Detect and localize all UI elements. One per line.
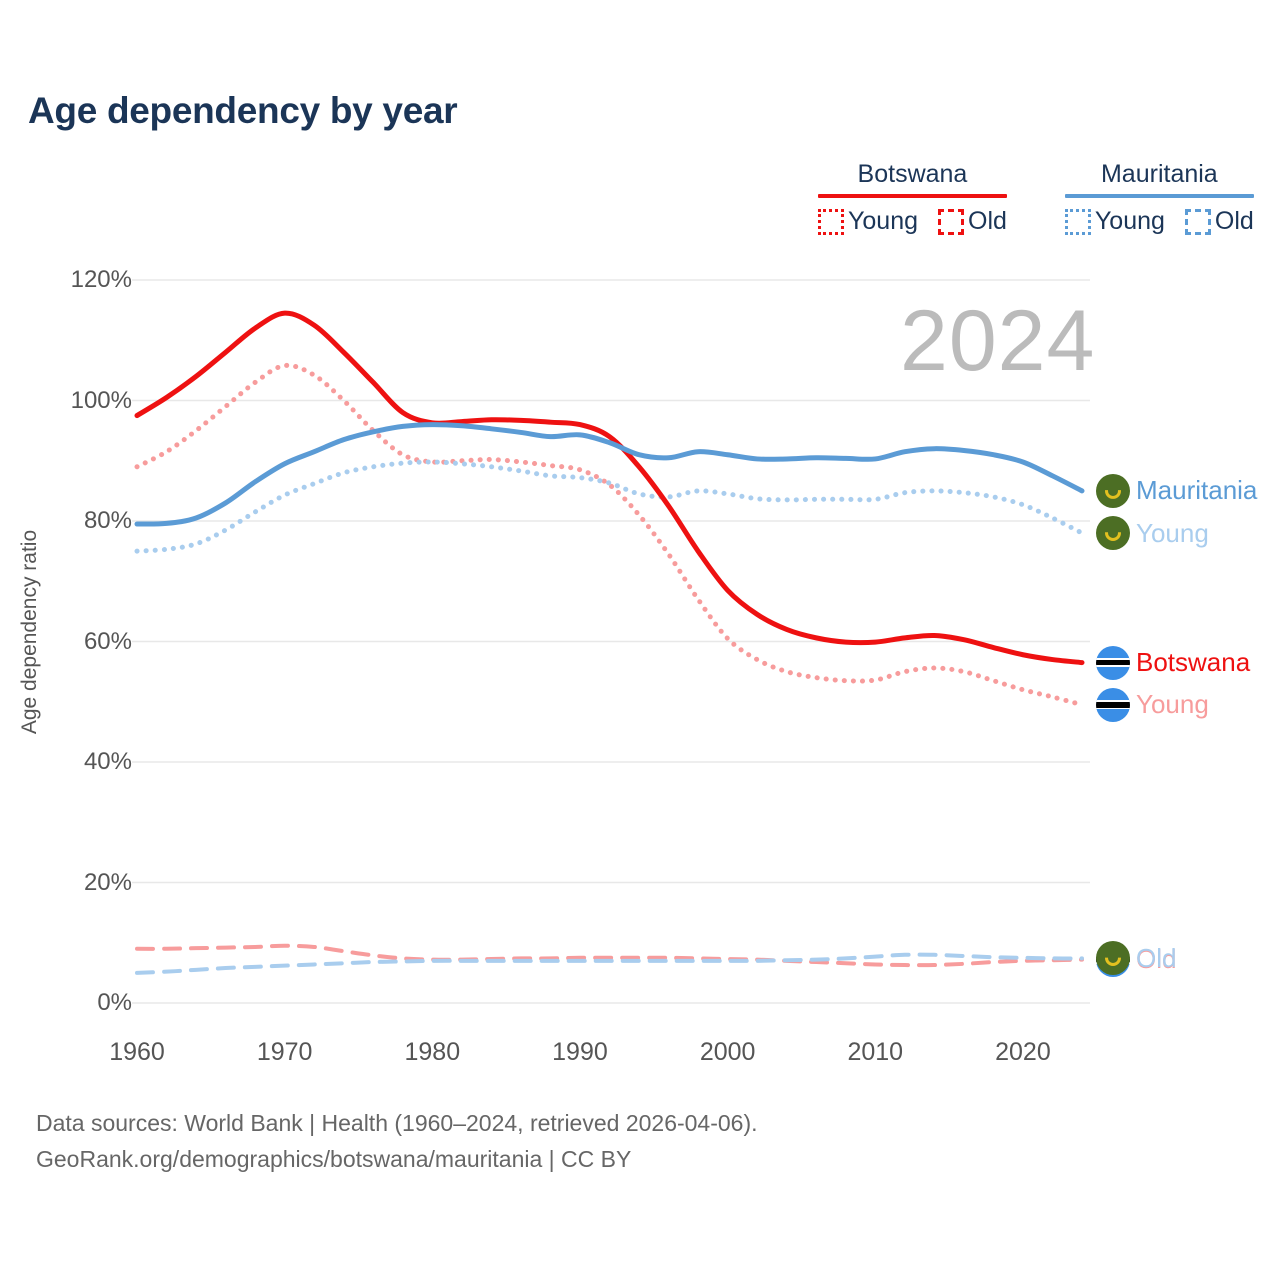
- end-label-text: Young: [1136, 689, 1209, 720]
- legend-swatch-dashed-icon: [938, 209, 964, 235]
- x-tick-label: 1990: [552, 1038, 608, 1067]
- legend-item-botswana-old[interactable]: Old: [938, 207, 1007, 236]
- end-label-botswana[interactable]: Botswana: [1096, 646, 1250, 680]
- legend-item-mauritania-young[interactable]: Young: [1065, 207, 1165, 236]
- footer-data-sources: Data sources: World Bank | Health (1960–…: [36, 1106, 758, 1142]
- mauritania-flag-icon: [1096, 516, 1130, 550]
- legend-label-mauritania-old: Old: [1215, 207, 1254, 236]
- legend-item-botswana-young[interactable]: Young: [818, 207, 918, 236]
- legend-swatch-dotted-icon: [1065, 209, 1091, 235]
- series-line-botswana-young: [137, 365, 1082, 704]
- legend-label-mauritania-young: Young: [1095, 207, 1165, 236]
- botswana-flag-icon: [1096, 646, 1130, 680]
- year-watermark: 2024: [900, 292, 1095, 391]
- x-tick-label: 1970: [257, 1038, 313, 1067]
- crescent-icon: [1105, 950, 1121, 966]
- legend-country-mauritania: Mauritania: [1065, 160, 1254, 194]
- series-line-mauritania-young: [137, 462, 1082, 551]
- crescent-icon: [1105, 525, 1121, 541]
- end-label-young[interactable]: Young: [1096, 516, 1209, 550]
- page-title: Age dependency by year: [28, 90, 457, 132]
- x-tick-label: 1960: [109, 1038, 165, 1067]
- legend-label-botswana-young: Young: [848, 207, 918, 236]
- footer-attribution: GeoRank.org/demographics/botswana/maurit…: [36, 1142, 758, 1178]
- end-label-text: Mauritania: [1136, 475, 1257, 506]
- legend-country-botswana: Botswana: [818, 160, 1007, 194]
- x-tick-label: 2020: [995, 1038, 1051, 1067]
- crescent-icon: [1105, 483, 1121, 499]
- end-label-young[interactable]: Young: [1096, 688, 1209, 722]
- legend-swatch-dashed-icon: [1185, 209, 1211, 235]
- legend-group-mauritania[interactable]: Mauritania Young Old: [1065, 160, 1254, 236]
- legend-item-mauritania-old[interactable]: Old: [1185, 207, 1254, 236]
- legend-rule-mauritania: [1065, 194, 1254, 198]
- chart-footer: Data sources: World Bank | Health (1960–…: [36, 1106, 758, 1177]
- chart-container: Age dependency ratio 0%20%40%60%80%100%1…: [0, 250, 1280, 1080]
- legend-label-botswana-old: Old: [968, 207, 1007, 236]
- end-label-text: Young: [1136, 518, 1209, 549]
- mauritania-flag-icon: [1096, 941, 1130, 975]
- chart-legend: Botswana Young Old Mauritania Young Old: [818, 160, 1258, 236]
- legend-swatch-dotted-icon: [818, 209, 844, 235]
- end-label-text: Old: [1136, 943, 1176, 974]
- legend-group-botswana[interactable]: Botswana Young Old: [818, 160, 1007, 236]
- legend-rule-botswana: [818, 194, 1007, 198]
- x-tick-label: 1980: [405, 1038, 461, 1067]
- end-label-old[interactable]: Old: [1096, 941, 1176, 975]
- mauritania-flag-icon: [1096, 474, 1130, 508]
- x-tick-label: 2010: [847, 1038, 903, 1067]
- end-label-text: Botswana: [1136, 647, 1250, 678]
- end-label-mauritania[interactable]: Mauritania: [1096, 474, 1257, 508]
- x-tick-label: 2000: [700, 1038, 756, 1067]
- botswana-flag-icon: [1096, 688, 1130, 722]
